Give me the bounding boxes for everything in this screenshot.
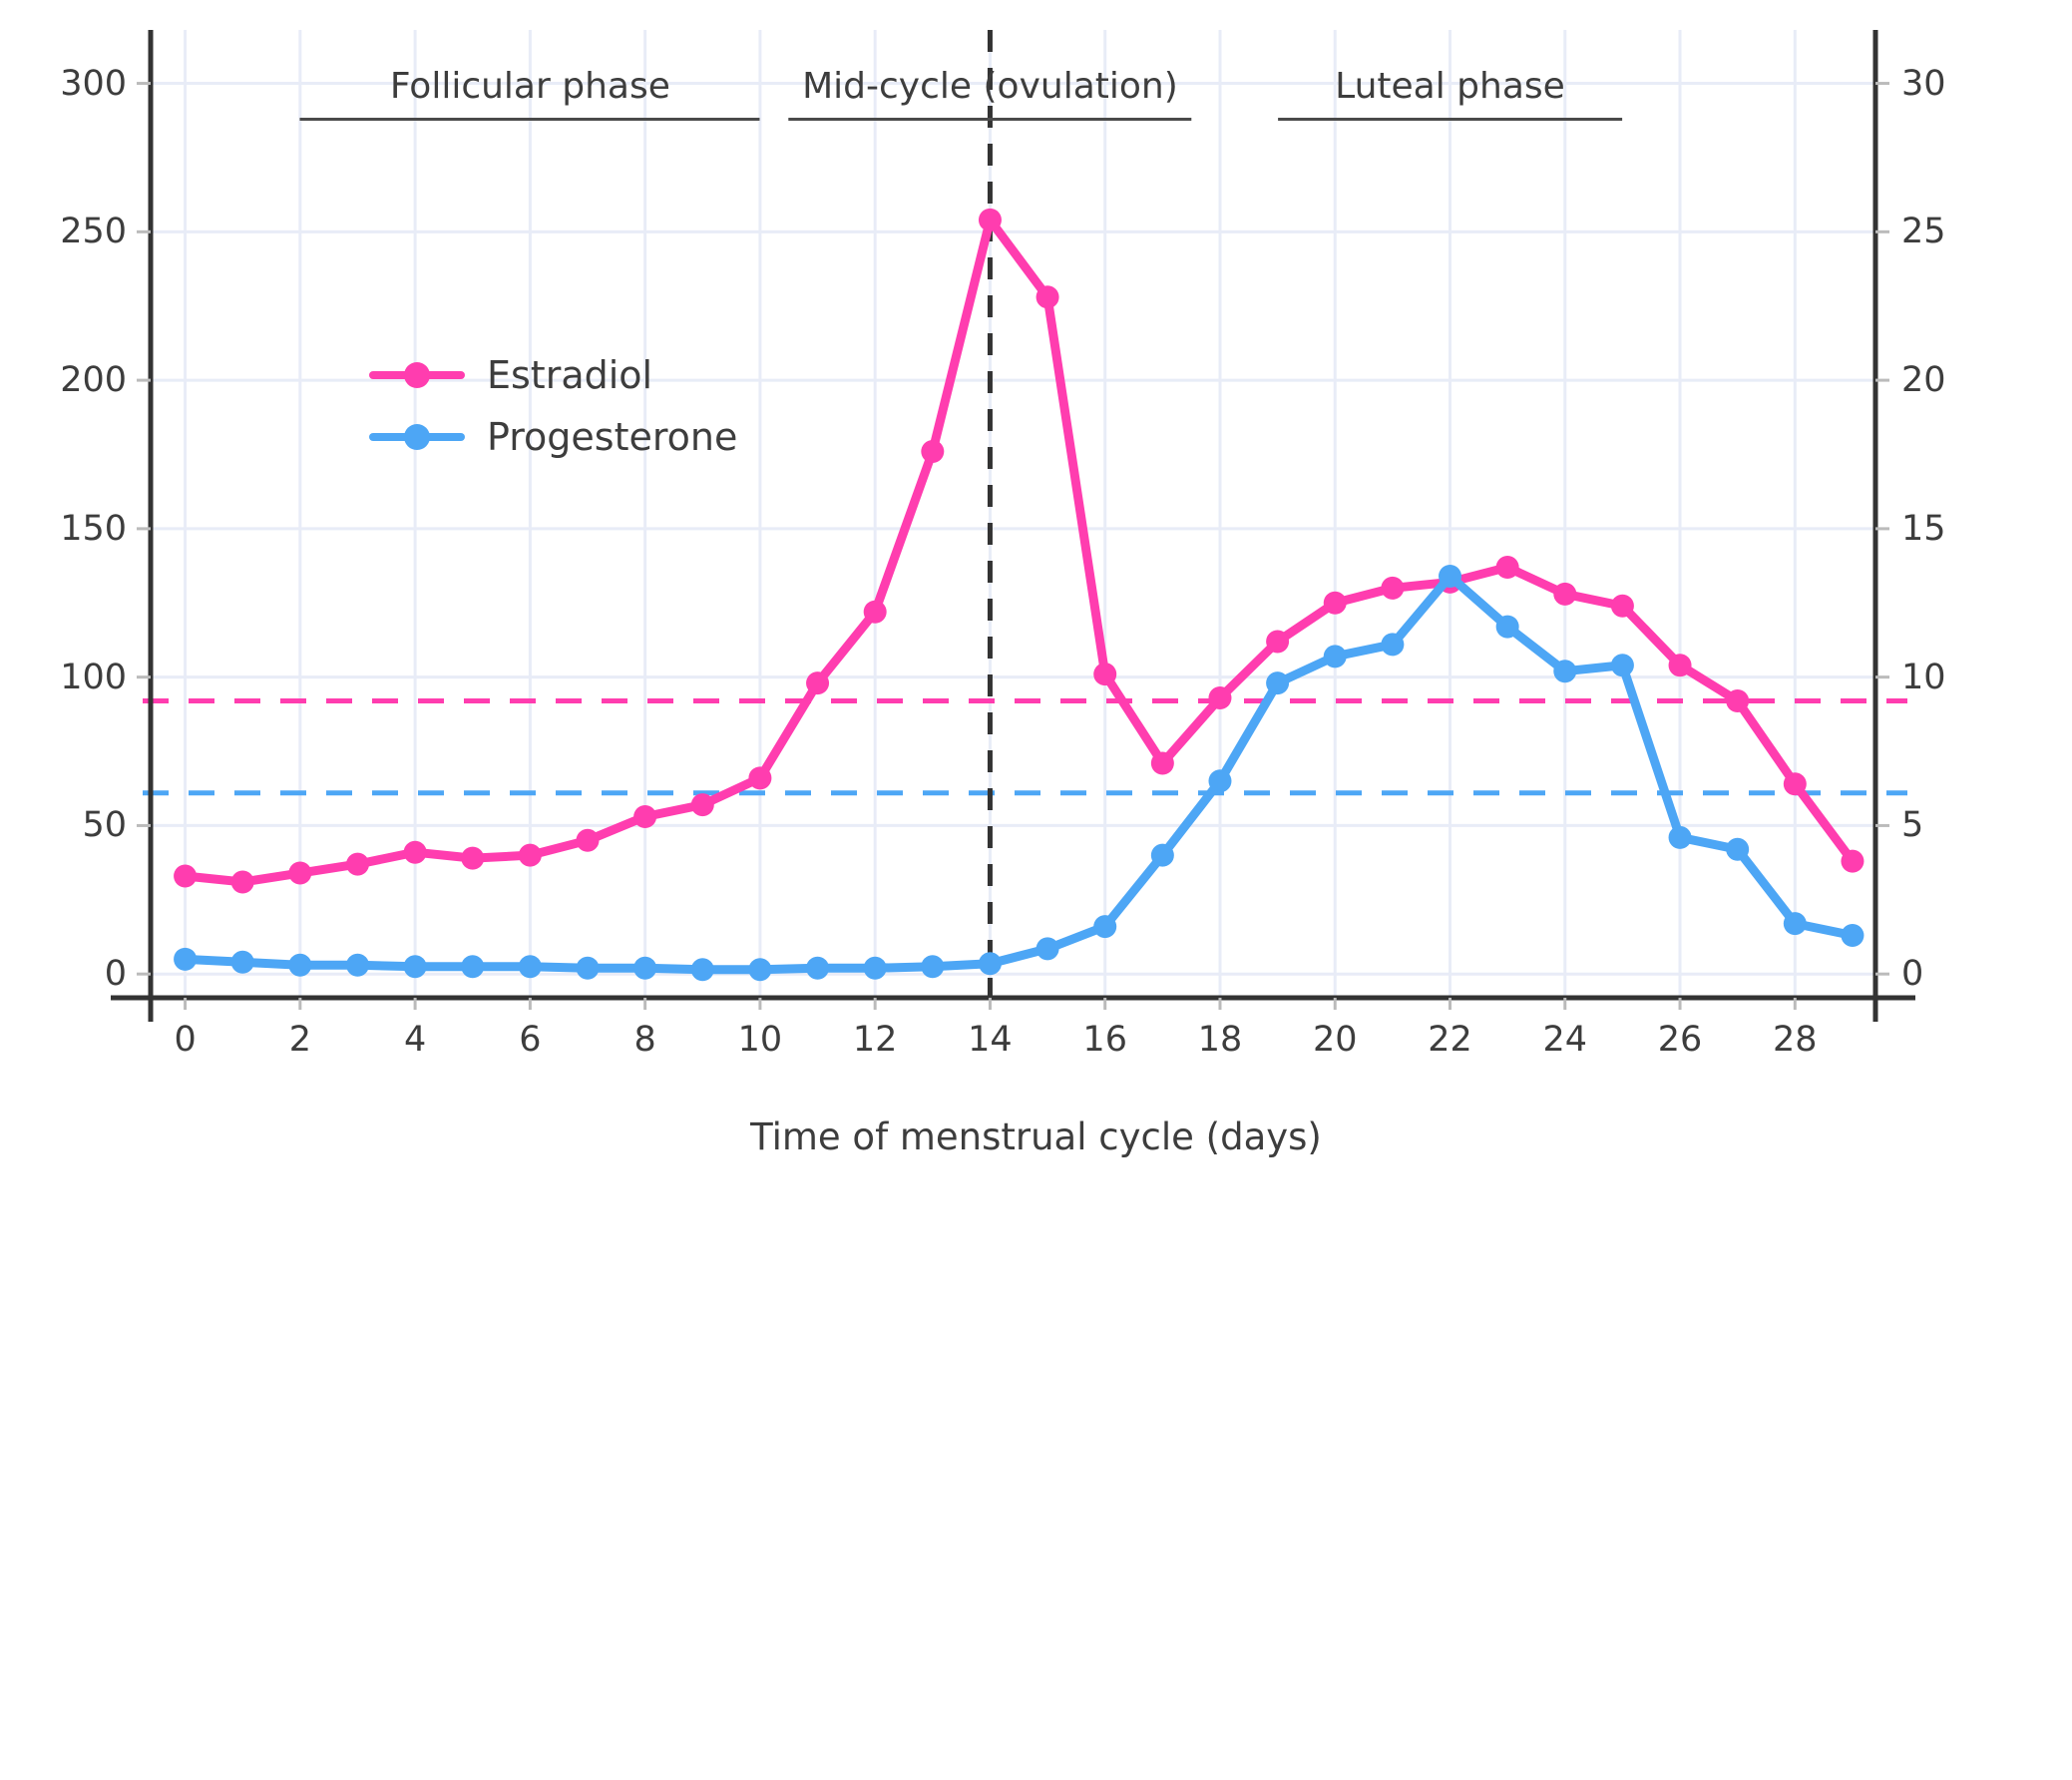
data-point xyxy=(1784,772,1807,795)
data-point xyxy=(1496,556,1519,579)
data-point xyxy=(1324,645,1347,667)
y-tick-label-left: 200 xyxy=(60,360,127,400)
data-point xyxy=(1553,583,1576,606)
x-tick-label: 26 xyxy=(1658,1020,1703,1060)
legend-item-progesterone[interactable]: Progesterone xyxy=(369,406,737,468)
y-tick-label-right: 25 xyxy=(1901,212,1946,251)
data-point xyxy=(1841,924,1864,947)
y-tick-label-left: 50 xyxy=(82,805,127,845)
data-point xyxy=(174,865,197,888)
data-point xyxy=(1266,630,1289,653)
x-tick-label: 20 xyxy=(1313,1020,1358,1060)
data-point xyxy=(1093,915,1116,938)
x-tick-label: 0 xyxy=(174,1020,196,1060)
data-point xyxy=(921,955,944,978)
data-point xyxy=(1726,689,1749,712)
data-point xyxy=(404,841,427,864)
data-point xyxy=(633,805,656,828)
y-tick-label-right: 10 xyxy=(1901,658,1946,697)
data-point xyxy=(346,853,369,876)
data-point xyxy=(748,766,771,789)
y-tick-label-left: 250 xyxy=(60,212,127,251)
x-tick-label: 24 xyxy=(1542,1020,1587,1060)
data-point xyxy=(1841,850,1864,873)
y-tick-label-right: 15 xyxy=(1901,509,1946,549)
data-point xyxy=(806,957,829,980)
data-point xyxy=(519,955,542,978)
phase-annotation: Mid-cycle (ovulation) xyxy=(802,66,1178,115)
data-point xyxy=(748,958,771,981)
x-tick-label: 18 xyxy=(1198,1020,1243,1060)
data-point xyxy=(346,954,369,977)
phase-annotation-underline xyxy=(789,118,1191,121)
data-point xyxy=(1611,654,1634,676)
data-point xyxy=(1036,937,1059,960)
data-point xyxy=(1726,838,1749,861)
data-point xyxy=(288,954,311,977)
data-point xyxy=(691,793,714,816)
data-point xyxy=(864,601,887,624)
y-tick-label-left: 300 xyxy=(60,64,127,104)
data-point xyxy=(1669,826,1692,849)
x-tick-label: 4 xyxy=(404,1020,426,1060)
data-point xyxy=(461,847,484,870)
data-point xyxy=(1553,660,1576,682)
chart-legend: Estradiol Progesterone xyxy=(369,344,737,468)
data-point xyxy=(1208,769,1231,792)
data-point xyxy=(864,957,887,980)
y-tick-label-right: 30 xyxy=(1901,64,1946,104)
x-tick-label: 22 xyxy=(1428,1020,1472,1060)
data-point xyxy=(174,948,197,971)
x-tick-label: 2 xyxy=(289,1020,311,1060)
data-point xyxy=(288,862,311,885)
y-tick-label-right: 5 xyxy=(1901,805,1923,845)
data-point xyxy=(1151,844,1174,867)
data-point xyxy=(461,955,484,978)
data-point xyxy=(577,957,600,980)
data-point xyxy=(1266,671,1289,694)
data-point xyxy=(1151,751,1174,774)
phase-annotation-underline xyxy=(300,118,760,121)
data-point xyxy=(1208,686,1231,709)
x-tick-label: 6 xyxy=(519,1020,541,1060)
data-point xyxy=(231,870,254,893)
data-point xyxy=(979,952,1002,975)
legend-label-progesterone: Progesterone xyxy=(487,415,737,459)
tick-marks xyxy=(137,84,1889,1010)
data-point xyxy=(1381,633,1404,656)
axis-spines xyxy=(111,30,1915,1022)
data-point xyxy=(1381,577,1404,600)
x-tick-label: 28 xyxy=(1773,1020,1818,1060)
legend-swatch-progesterone xyxy=(369,420,465,454)
x-tick-label: 16 xyxy=(1082,1020,1127,1060)
y-tick-label-right: 0 xyxy=(1901,954,1923,994)
data-point xyxy=(231,951,254,974)
data-point xyxy=(633,957,656,980)
x-tick-label: 8 xyxy=(634,1020,656,1060)
legend-swatch-estradiol xyxy=(369,358,465,392)
y-tick-label-left: 150 xyxy=(60,509,127,549)
data-point xyxy=(1611,595,1634,618)
data-point xyxy=(577,829,600,852)
data-point xyxy=(921,440,944,463)
legend-label-estradiol: Estradiol xyxy=(487,353,652,397)
x-tick-label: 10 xyxy=(738,1020,783,1060)
data-point xyxy=(1784,912,1807,935)
phase-annotation: Luteal phase xyxy=(1335,66,1565,115)
phase-annotation: Follicular phase xyxy=(390,66,670,115)
data-point xyxy=(691,958,714,981)
data-point xyxy=(1669,654,1692,676)
data-point xyxy=(1324,592,1347,615)
data-point xyxy=(1036,285,1059,308)
x-tick-label: 14 xyxy=(968,1020,1013,1060)
data-point xyxy=(1093,663,1116,685)
data-point xyxy=(806,671,829,694)
y-tick-label-left: 100 xyxy=(60,658,127,697)
phase-annotation-underline xyxy=(1278,118,1623,121)
series-progesterone xyxy=(174,565,1864,981)
data-point xyxy=(1496,616,1519,639)
legend-item-estradiol[interactable]: Estradiol xyxy=(369,344,737,406)
data-point xyxy=(979,209,1002,231)
x-tick-label: 12 xyxy=(853,1020,898,1060)
y-tick-label-right: 20 xyxy=(1901,360,1946,400)
data-point xyxy=(404,955,427,978)
data-point xyxy=(519,844,542,867)
chart-figure: Estradiol levels (pg/mL) Progesterone le… xyxy=(0,0,2072,1205)
data-point xyxy=(1439,565,1461,588)
y-tick-label-left: 0 xyxy=(105,954,127,994)
